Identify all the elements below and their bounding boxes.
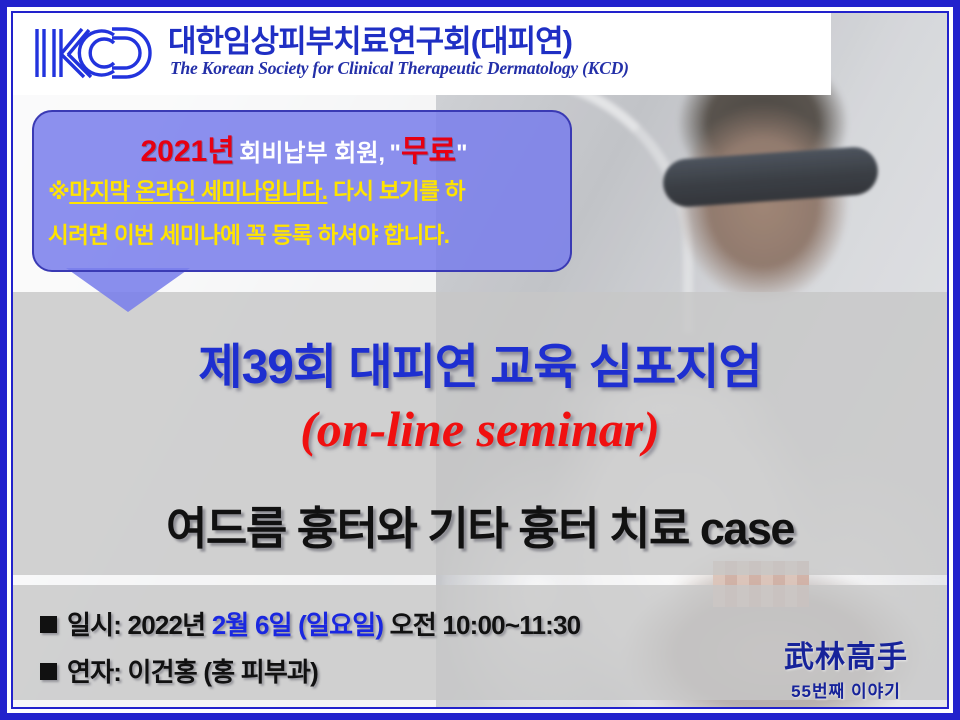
society-name-korean: 대한임상피부치료연구회(대피연): [168, 16, 572, 61]
callout-tail: [66, 268, 190, 312]
callout-line-3: 시려면 이번 세미나에 꼭 등록 하셔야 합니다.: [48, 218, 564, 250]
datetime-year: 2022년: [128, 610, 206, 640]
callout-line-2-rest: 다시 보기를 하: [327, 179, 465, 204]
callout-quote-open: ": [390, 140, 401, 167]
callout-last-seminar-text: 마지막 온라인 세미나입니다.: [69, 179, 327, 204]
free-notice-callout: 2021년 회비납부 회원, "무료" ※마지막 온라인 세미나입니다. 다시 …: [32, 110, 572, 272]
page-title: 제39회 대피연 교육 심포지엄: [13, 327, 947, 397]
square-bullet-icon: [40, 663, 57, 680]
square-bullet-icon: [40, 616, 57, 633]
speaker-name: 이건홍 (홍 피부과): [128, 657, 318, 687]
signature-episode: 55번째 이야기: [784, 677, 908, 702]
callout-year: 2021년: [140, 135, 234, 168]
callout-member-text: 회비납부 회원,: [239, 140, 385, 167]
callout-line-1: 2021년 회비납부 회원, "무료": [34, 126, 574, 170]
datetime-label: 일시:: [67, 610, 121, 640]
seminar-topic: 여드름 흉터와 기타 흉터 치료 case: [13, 492, 947, 557]
society-name-english: The Korean Society for Clinical Therapeu…: [170, 58, 629, 79]
callout-free-label: 무료: [401, 135, 456, 168]
callout-quote-close: ": [456, 140, 467, 167]
callout-note-marker: ※: [48, 179, 69, 204]
speaker-label: 연자:: [67, 657, 121, 687]
callout-line-2: ※마지막 온라인 세미나입니다. 다시 보기를 하: [48, 174, 564, 206]
poster-header: 대한임상피부치료연구회(대피연) The Korean Society for …: [13, 13, 947, 95]
series-signature: 武林高手 55번째 이야기: [784, 632, 908, 702]
detail-row-datetime: 일시: 2022년 2월 6일 (일요일) 오전 10:00~11:30: [40, 605, 580, 642]
detail-row-speaker: 연자: 이건홍 (홍 피부과): [40, 652, 318, 689]
seminar-poster: 대한임상피부치료연구회(대피연) The Korean Society for …: [0, 0, 960, 720]
kcd-logo: [30, 21, 158, 85]
signature-title: 武林高手: [784, 632, 908, 676]
page-subtitle-english: (on-line seminar): [13, 400, 947, 458]
datetime-time: 오전 10:00~11:30: [390, 610, 581, 640]
datetime-date: 2월 6일 (일요일): [212, 610, 383, 640]
